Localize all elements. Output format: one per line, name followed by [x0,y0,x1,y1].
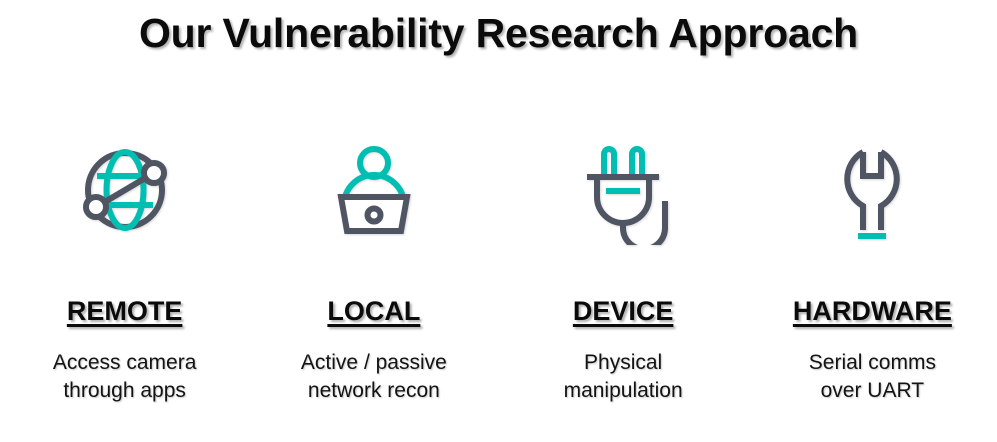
column-hardware: HARDWARE Serial comms over UART [748,130,997,405]
slide-root: Our Vulnerability Research Approach [0,0,997,442]
category-description-device: Physical manipulation [564,349,683,405]
column-local: LOCAL Active / passive network recon [249,130,498,405]
page-title: Our Vulnerability Research Approach [0,10,997,57]
category-label-local: LOCAL [327,296,420,327]
column-device: DEVICE Physical manipulation [499,130,748,405]
category-label-device: DEVICE [573,296,674,327]
category-description-local: Active / passive network recon [301,349,447,405]
column-remote: REMOTE Access camera through apps [0,130,249,405]
approach-columns: REMOTE Access camera through apps LOCAL … [0,130,997,405]
category-label-hardware: HARDWARE [793,296,952,327]
category-description-hardware: Serial comms over UART [809,349,936,405]
globe-network-icon [65,130,185,250]
category-description-remote: Access camera through apps [53,349,197,405]
wrench-icon [812,130,932,250]
power-plug-icon [563,130,683,250]
person-laptop-icon [314,130,434,250]
category-label-remote: REMOTE [67,296,183,327]
